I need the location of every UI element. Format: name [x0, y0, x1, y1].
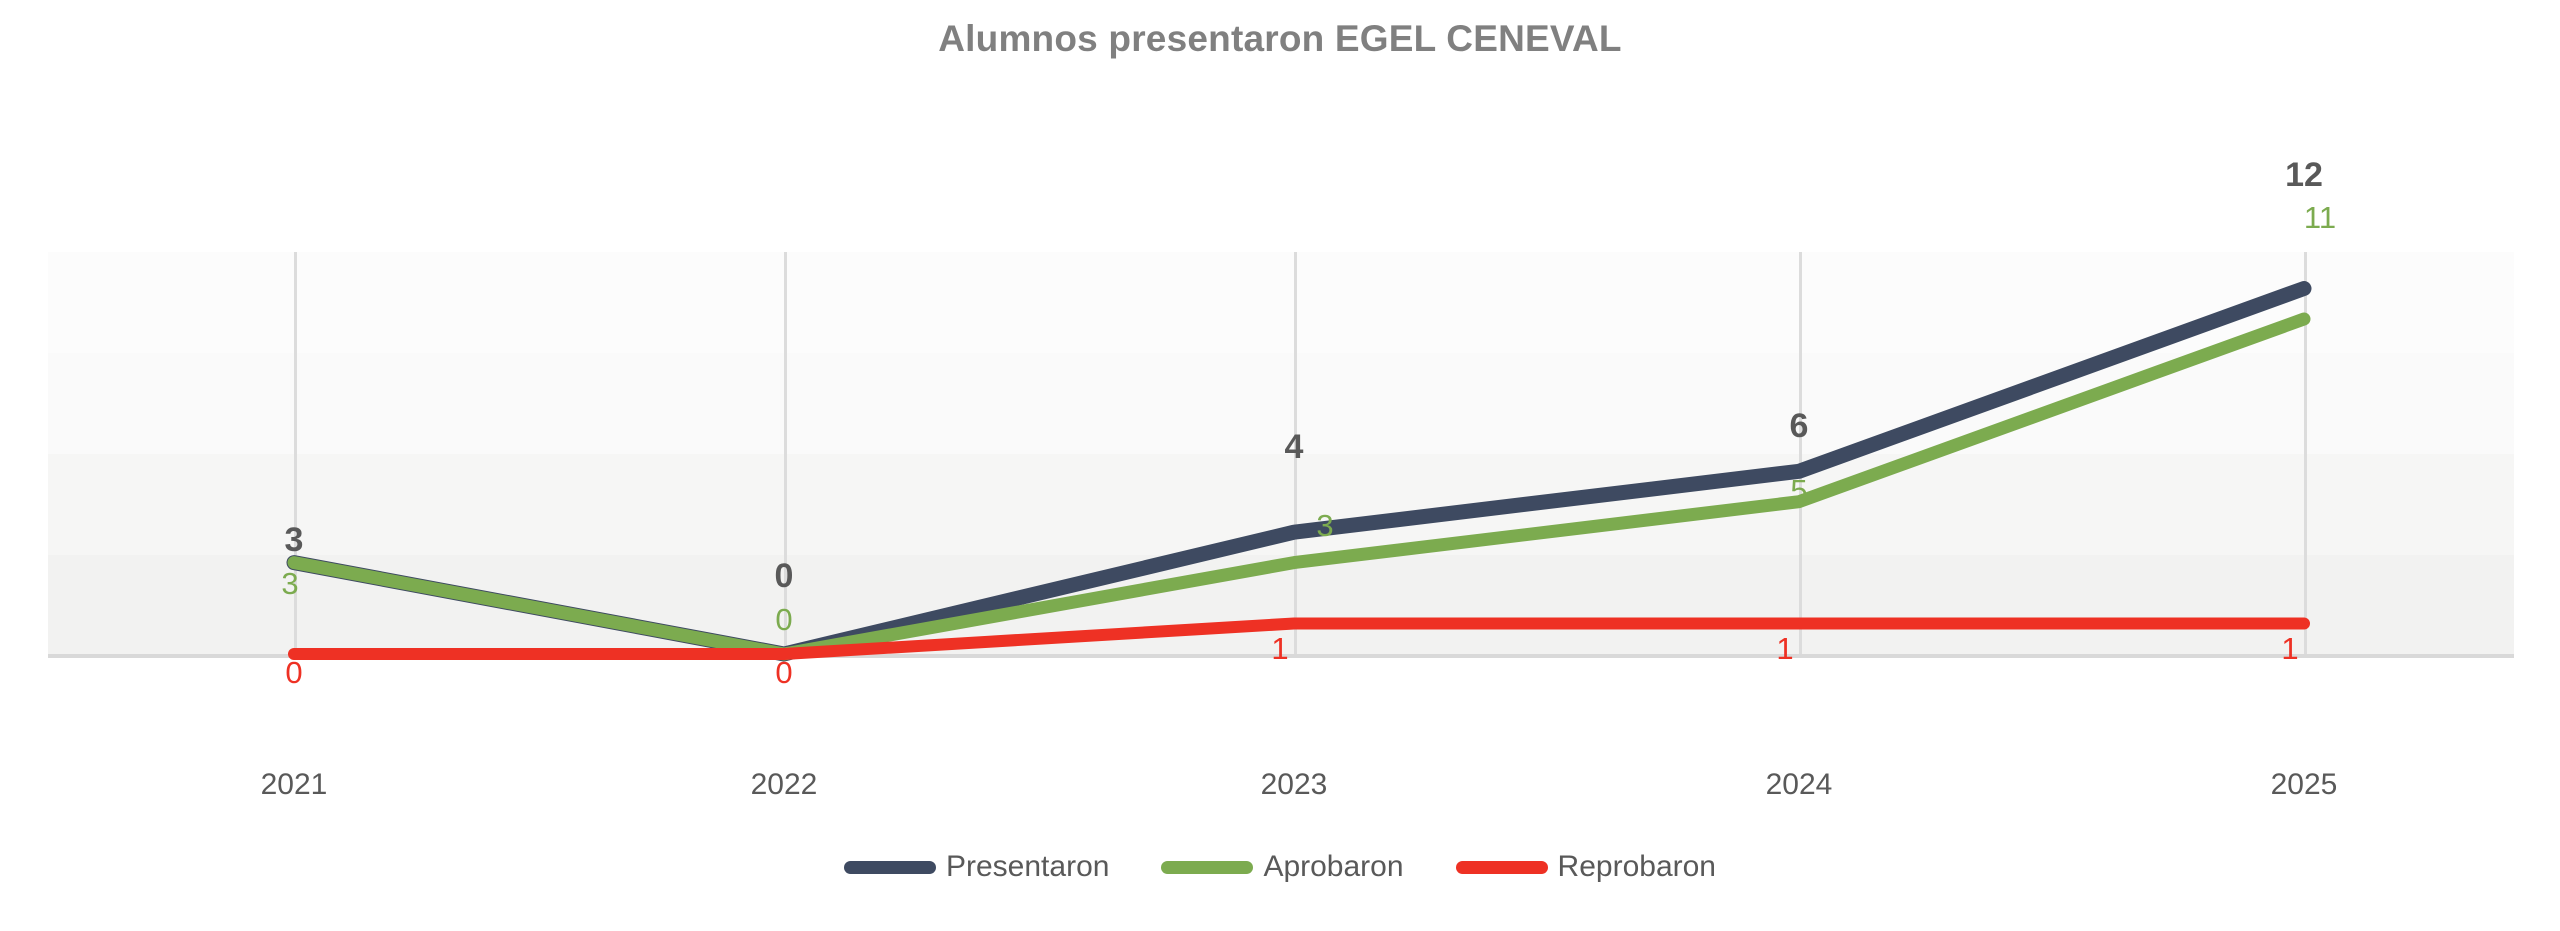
chart-legend: Presentaron Aprobaron Reprobaron [0, 850, 2560, 884]
data-label-aprobaron-2023: 3 [1316, 508, 1333, 544]
data-label-reprobaron-2021: 0 [285, 655, 302, 691]
legend-swatch-aprobaron [1161, 861, 1253, 874]
data-label-reprobaron-2025: 1 [2281, 631, 2298, 667]
plot-area [48, 252, 2514, 655]
data-label-reprobaron-2024: 1 [1776, 631, 1793, 667]
data-label-aprobaron-2025: 11 [2304, 200, 2336, 236]
chart-container: Alumnos presentaron EGEL CENEVAL 3 0 4 6… [0, 0, 2560, 931]
data-label-presentaron-2025: 12 [2285, 156, 2323, 195]
data-label-presentaron-2022: 0 [775, 557, 794, 596]
gridline-2025 [2304, 252, 2307, 655]
data-label-presentaron-2023: 4 [1285, 428, 1304, 467]
legend-swatch-reprobaron [1456, 861, 1548, 874]
x-tick-2023: 2023 [1261, 768, 1328, 802]
data-label-reprobaron-2023: 1 [1271, 631, 1288, 667]
data-label-aprobaron-2024: 5 [1790, 473, 1807, 509]
gridline-2024 [1799, 252, 1802, 655]
data-label-aprobaron-2021: 3 [281, 566, 298, 602]
legend-item-aprobaron[interactable]: Aprobaron [1161, 850, 1403, 884]
legend-label-presentaron: Presentaron [946, 850, 1109, 884]
x-tick-2024: 2024 [1766, 768, 1833, 802]
x-tick-2025: 2025 [2271, 768, 2338, 802]
legend-item-reprobaron[interactable]: Reprobaron [1456, 850, 1716, 884]
plot-band-top [48, 252, 2514, 353]
x-tick-2022: 2022 [751, 768, 818, 802]
plot-band-upper-mid [48, 353, 2514, 454]
chart-title: Alumnos presentaron EGEL CENEVAL [0, 18, 2560, 60]
legend-item-presentaron[interactable]: Presentaron [844, 850, 1109, 884]
legend-swatch-presentaron [844, 861, 936, 874]
plot-band-lower-mid [48, 454, 2514, 555]
legend-label-aprobaron: Aprobaron [1263, 850, 1403, 884]
data-label-reprobaron-2022: 0 [775, 655, 792, 691]
legend-label-reprobaron: Reprobaron [1558, 850, 1716, 884]
data-label-aprobaron-2022: 0 [775, 602, 792, 638]
data-label-presentaron-2021: 3 [285, 521, 304, 560]
data-label-presentaron-2024: 6 [1790, 407, 1809, 446]
x-tick-2021: 2021 [261, 768, 328, 802]
